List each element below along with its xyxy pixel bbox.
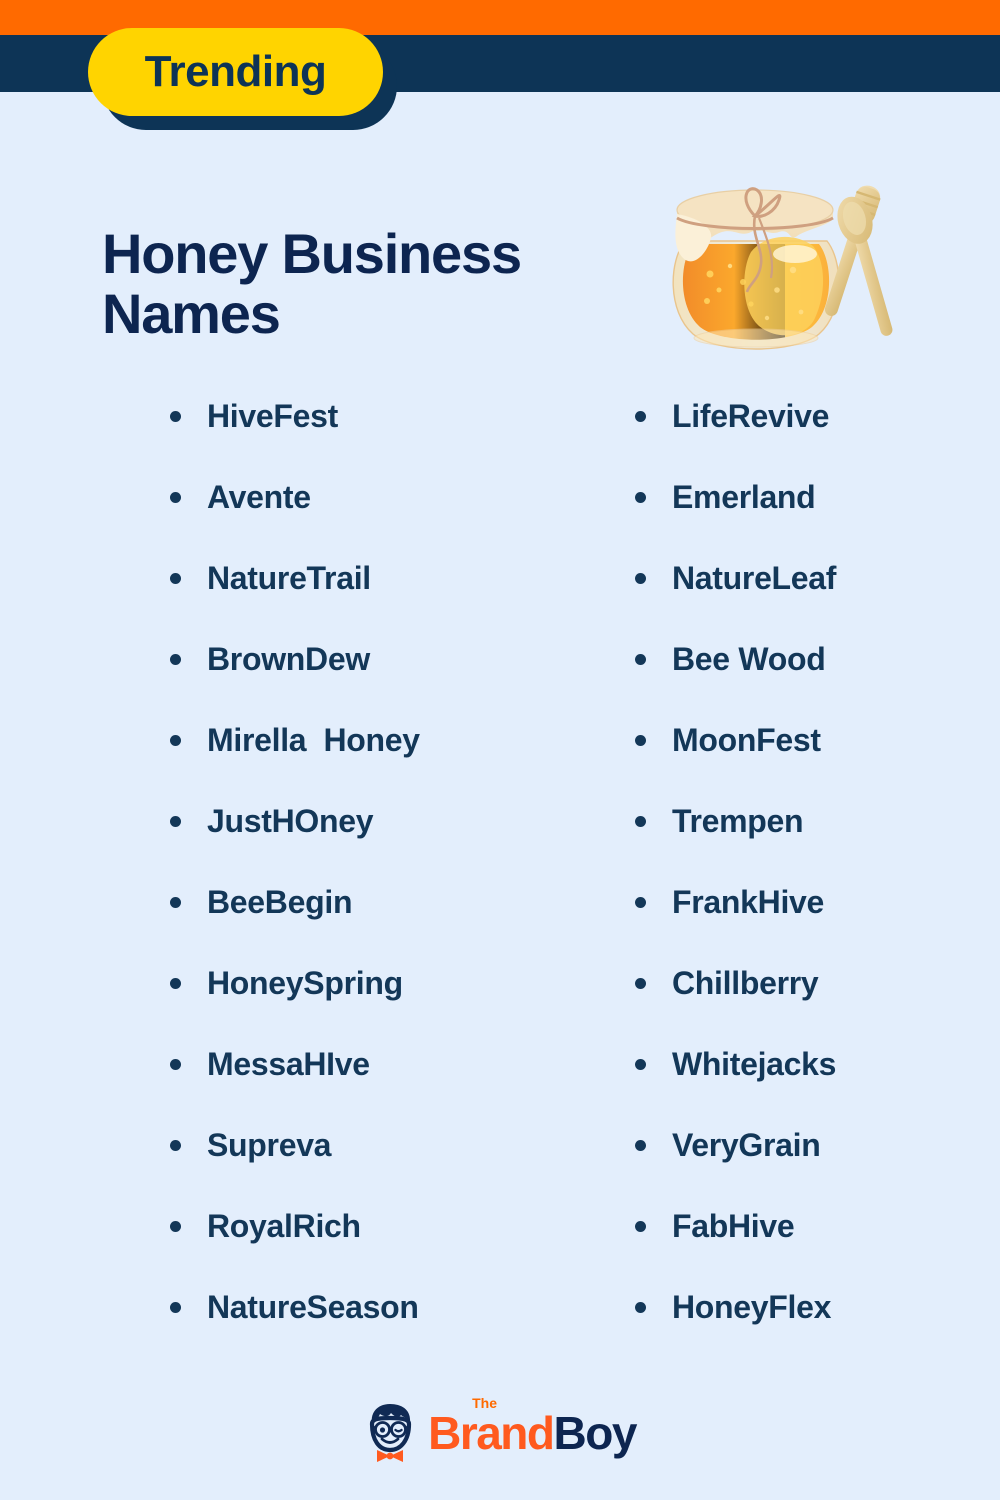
list-item-label: RoyalRich [207, 1208, 361, 1245]
list-item[interactable]: Bee Wood [635, 641, 1000, 722]
bullet-icon [635, 1140, 646, 1151]
list-item-label: LifeRevive [672, 398, 829, 435]
list-item-label: NatureSeason [207, 1289, 419, 1326]
bullet-icon [170, 1221, 181, 1232]
bullet-icon [635, 735, 646, 746]
names-lists: HiveFest Avente NatureTrail BrownDew Mir… [0, 398, 1000, 1358]
list-item-label: Bee Wood [672, 641, 825, 678]
trending-badge[interactable]: Trending [88, 28, 388, 133]
list-item[interactable]: NatureTrail [170, 560, 535, 641]
list-item-label: FabHive [672, 1208, 794, 1245]
list-item[interactable]: MoonFest [635, 722, 1000, 803]
names-column-left: HiveFest Avente NatureTrail BrownDew Mir… [0, 398, 535, 1358]
list-item[interactable]: NatureLeaf [635, 560, 1000, 641]
bullet-icon [635, 573, 646, 584]
list-item-label: HoneyFlex [672, 1289, 831, 1326]
page-title: Honey Business Names [102, 224, 662, 345]
bullet-icon [635, 978, 646, 989]
list-item-label: Whitejacks [672, 1046, 836, 1083]
list-item[interactable]: HiveFest [170, 398, 535, 479]
list-item[interactable]: HoneySpring [170, 965, 535, 1046]
list-item-label: Trempen [672, 803, 803, 840]
bullet-icon [635, 411, 646, 422]
names-list-left: HiveFest Avente NatureTrail BrownDew Mir… [170, 398, 535, 1370]
list-item[interactable]: Emerland [635, 479, 1000, 560]
list-item-label: MoonFest [672, 722, 821, 759]
logo-boy-label: Boy [554, 1407, 636, 1459]
list-item-label: NatureLeaf [672, 560, 836, 597]
bullet-icon [170, 1059, 181, 1070]
list-item[interactable]: NatureSeason [170, 1289, 535, 1370]
bullet-icon [635, 654, 646, 665]
bullet-icon [170, 897, 181, 908]
list-item[interactable]: FrankHive [635, 884, 1000, 965]
logo-brand-label: Brand [428, 1407, 553, 1459]
brandboy-logo[interactable]: TheBrandBoy [0, 1402, 1000, 1464]
bullet-icon [170, 1302, 181, 1313]
bullet-icon [635, 1059, 646, 1070]
list-item-label: NatureTrail [207, 560, 371, 597]
trending-badge-pill[interactable]: Trending [88, 28, 383, 116]
names-list-right: LifeRevive Emerland NatureLeaf Bee Wood … [635, 398, 1000, 1370]
list-item[interactable]: Chillberry [635, 965, 1000, 1046]
bullet-icon [170, 978, 181, 989]
bullet-icon [170, 492, 181, 503]
list-item-label: BrownDew [207, 641, 370, 678]
bullet-icon [635, 1221, 646, 1232]
bullet-icon [170, 411, 181, 422]
list-item-label: Emerland [672, 479, 815, 516]
trending-badge-label: Trending [145, 50, 327, 94]
list-item-label: VeryGrain [672, 1127, 821, 1164]
list-item[interactable]: MessaHIve [170, 1046, 535, 1127]
list-item[interactable]: VeryGrain [635, 1127, 1000, 1208]
bullet-icon [170, 654, 181, 665]
bullet-icon [635, 816, 646, 827]
list-item-label: MessaHIve [207, 1046, 370, 1083]
list-item[interactable]: FabHive [635, 1208, 1000, 1289]
bullet-icon [635, 897, 646, 908]
list-item-label: Chillberry [672, 965, 818, 1002]
list-item[interactable]: Mirella Honey [170, 722, 535, 803]
bullet-icon [170, 816, 181, 827]
list-item[interactable]: Supreva [170, 1127, 535, 1208]
bullet-icon [170, 1140, 181, 1151]
names-column-right: LifeRevive Emerland NatureLeaf Bee Wood … [535, 398, 1000, 1358]
list-item[interactable]: JustHOney [170, 803, 535, 884]
list-item[interactable]: BrownDew [170, 641, 535, 722]
list-item[interactable]: LifeRevive [635, 398, 1000, 479]
list-item-label: JustHOney [207, 803, 373, 840]
list-item[interactable]: RoyalRich [170, 1208, 535, 1289]
brandboy-mascot-icon [364, 1402, 418, 1464]
bullet-icon [170, 573, 181, 584]
list-item[interactable]: Trempen [635, 803, 1000, 884]
honey-jar-icon [655, 166, 905, 361]
bullet-icon [635, 1302, 646, 1313]
brandboy-wordmark: TheBrandBoy [428, 1410, 636, 1456]
list-item-label: Avente [207, 479, 311, 516]
bullet-icon [170, 735, 181, 746]
list-item[interactable]: Whitejacks [635, 1046, 1000, 1127]
list-item[interactable]: Avente [170, 479, 535, 560]
list-item-label: Mirella Honey [207, 722, 420, 759]
list-item-label: HiveFest [207, 398, 338, 435]
list-item[interactable]: HoneyFlex [635, 1289, 1000, 1370]
list-item-label: Supreva [207, 1127, 331, 1164]
list-item-label: FrankHive [672, 884, 824, 921]
list-item-label: HoneySpring [207, 965, 403, 1002]
list-item[interactable]: BeeBegin [170, 884, 535, 965]
list-item-label: BeeBegin [207, 884, 352, 921]
bullet-icon [635, 492, 646, 503]
logo-the-label: The [472, 1396, 497, 1410]
